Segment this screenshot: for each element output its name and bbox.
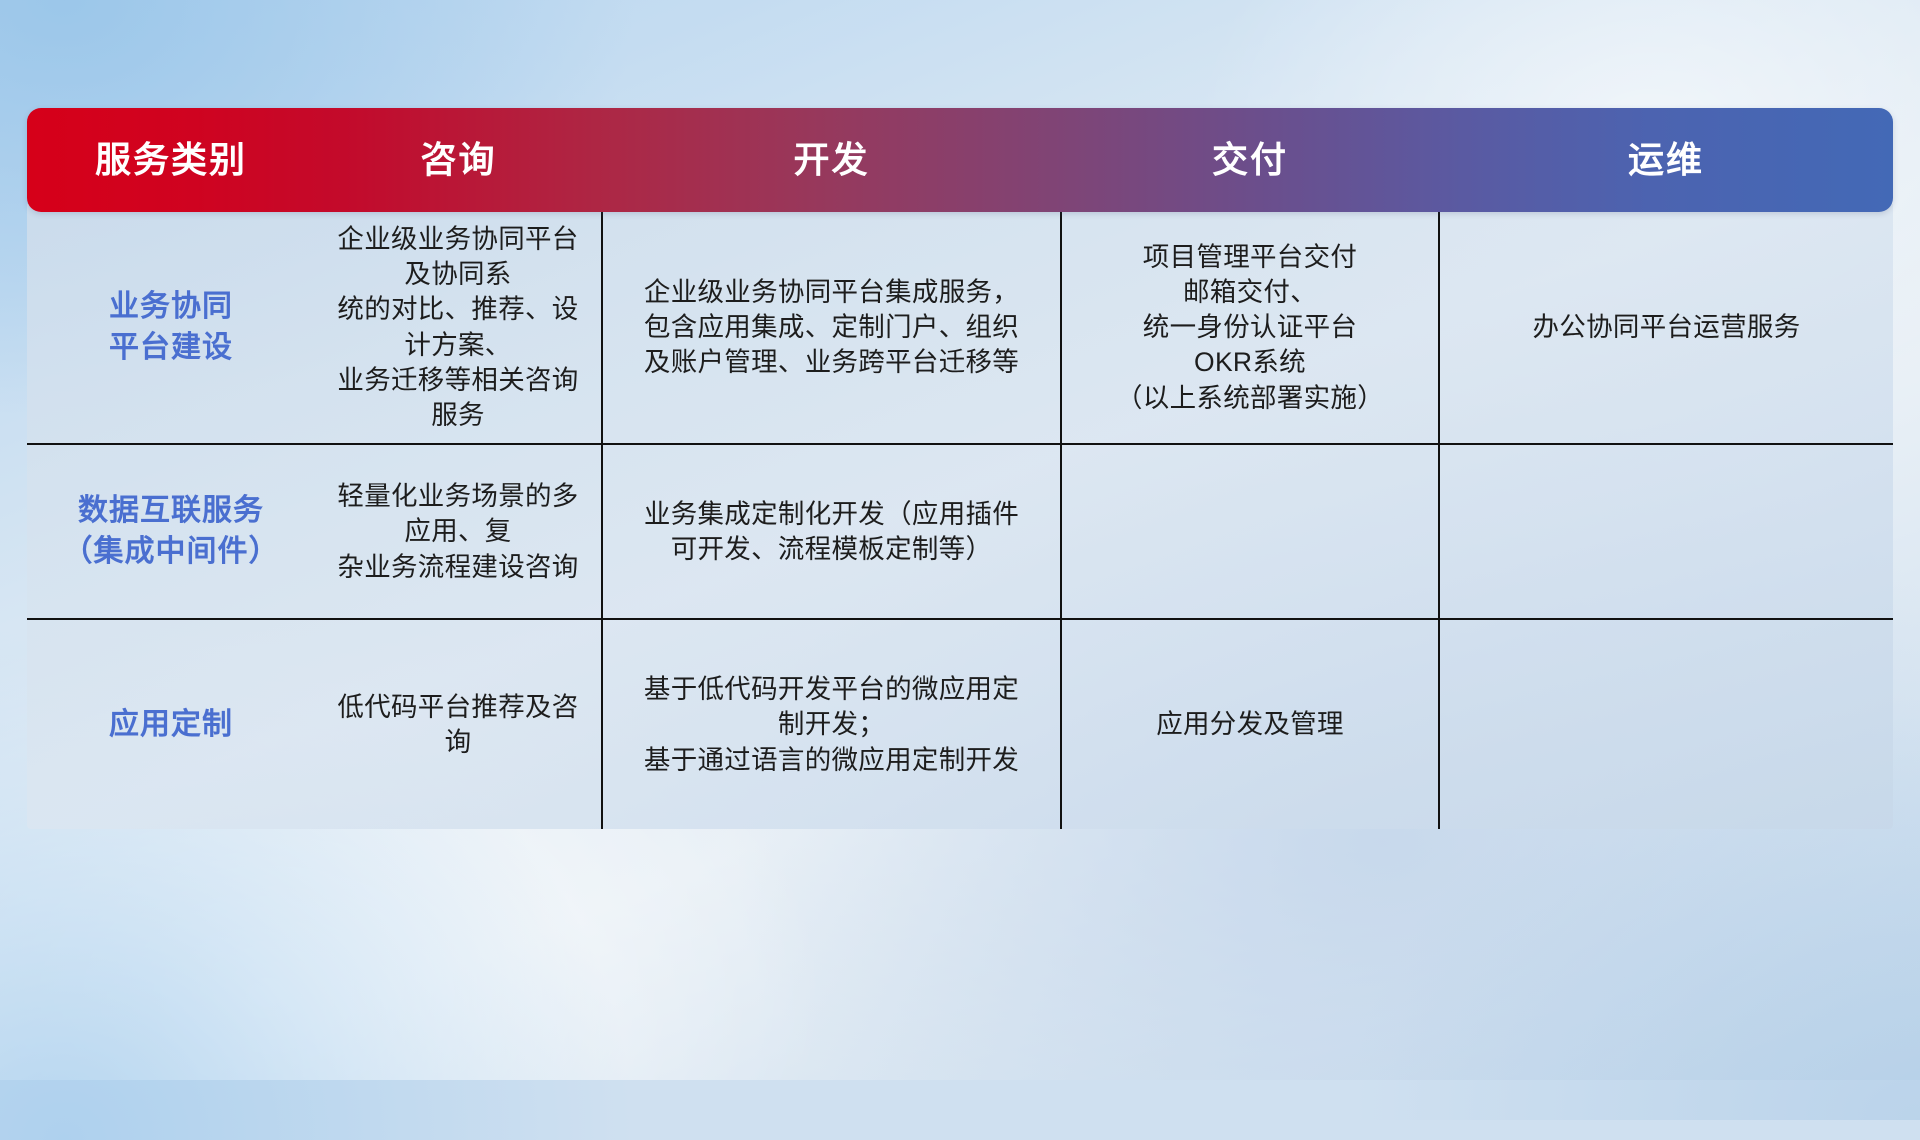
- column-header-delivery: 交付: [1061, 108, 1439, 212]
- row-label-application-customization: 应用定制: [27, 619, 315, 829]
- column-header-development: 开发: [602, 108, 1061, 212]
- cell-delivery-row-1: 项目管理平台交付 邮箱交付、 统一身份认证平台 OKR系统 （以上系统部署实施）: [1061, 212, 1439, 444]
- row-label-data-interconnect: 数据互联服务 （集成中间件）: [27, 444, 315, 619]
- row-label-business-collaboration: 业务协同 平台建设: [27, 212, 315, 444]
- cell-development-row-1: 企业级业务协同平台集成服务， 包含应用集成、定制门户、组织 及账户管理、业务跨平…: [602, 212, 1061, 444]
- table-row: 业务协同 平台建设 企业级业务协同平台及协同系 统的对比、推荐、设计方案、 业务…: [27, 212, 1893, 444]
- cell-delivery-row-2: [1061, 444, 1439, 619]
- cell-delivery-row-3: 应用分发及管理: [1061, 619, 1439, 829]
- table-row: 数据互联服务 （集成中间件） 轻量化业务场景的多应用、复 杂业务流程建设咨询 业…: [27, 444, 1893, 619]
- table-header-row: 服务类别 咨询 开发 交付 运维: [27, 108, 1893, 212]
- cell-development-row-2: 业务集成定制化开发（应用插件 可开发、流程模板定制等）: [602, 444, 1061, 619]
- cell-operations-row-2: [1439, 444, 1893, 619]
- table-body-panel: 业务协同 平台建设 企业级业务协同平台及协同系 统的对比、推荐、设计方案、 业务…: [27, 204, 1893, 829]
- cell-consulting-row-2: 轻量化业务场景的多应用、复 杂业务流程建设咨询: [315, 444, 602, 619]
- column-header-consulting: 咨询: [315, 108, 602, 212]
- cell-operations-row-1: 办公协同平台运营服务: [1439, 212, 1893, 444]
- column-header-operations: 运维: [1439, 108, 1893, 212]
- table-body: 业务协同 平台建设 企业级业务协同平台及协同系 统的对比、推荐、设计方案、 业务…: [27, 212, 1893, 829]
- service-matrix-table: 服务类别 咨询 开发 交付 运维 业务协同 平台建设 企业级业务协同平台及协同系…: [27, 108, 1893, 829]
- cell-consulting-row-1: 企业级业务协同平台及协同系 统的对比、推荐、设计方案、 业务迁移等相关咨询服务: [315, 212, 602, 444]
- table-row: 应用定制 低代码平台推荐及咨询 基于低代码开发平台的微应用定 制开发； 基于通过…: [27, 619, 1893, 829]
- column-header-category: 服务类别: [27, 108, 315, 212]
- cell-operations-row-3: [1439, 619, 1893, 829]
- cell-consulting-row-3: 低代码平台推荐及咨询: [315, 619, 602, 829]
- cell-development-row-3: 基于低代码开发平台的微应用定 制开发； 基于通过语言的微应用定制开发: [602, 619, 1061, 829]
